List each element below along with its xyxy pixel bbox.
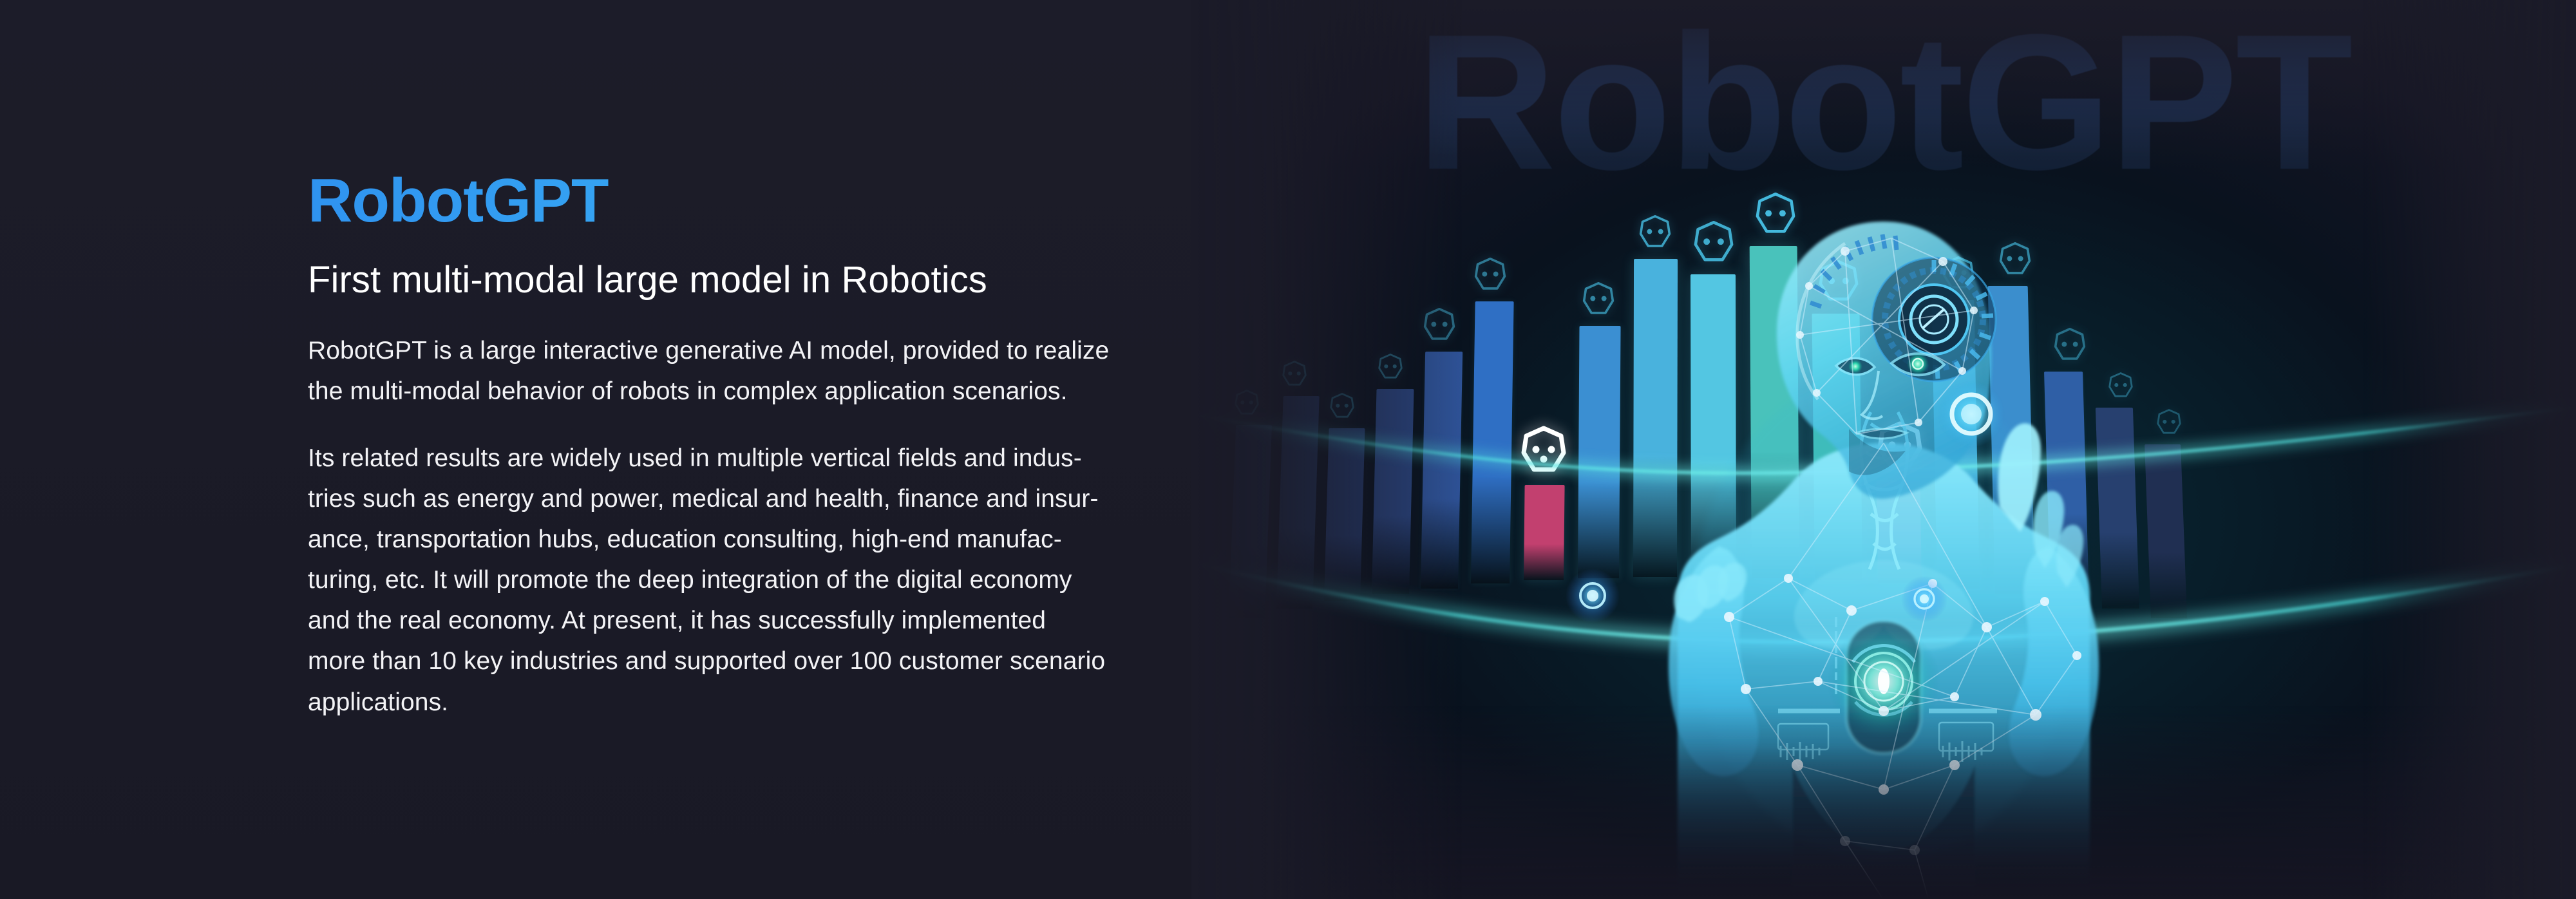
chart-bar xyxy=(1276,396,1320,609)
robot-face-icon xyxy=(2105,370,2136,401)
paragraph-line: tries such as energy and power, medical … xyxy=(308,478,1209,519)
chart-bar xyxy=(1877,480,1922,583)
chart-bar xyxy=(1471,301,1514,583)
robot-face-icon xyxy=(1231,388,1262,419)
page-title: RobotGPT xyxy=(308,169,1222,234)
chart-bar xyxy=(1421,352,1463,589)
robot-face-icon xyxy=(1279,359,1310,390)
chart-bar xyxy=(1988,286,2035,594)
chart-bar xyxy=(2145,444,2187,618)
robot-face-icon xyxy=(1375,352,1406,383)
chart-bar xyxy=(1324,428,1365,601)
robot-face-icon xyxy=(1578,279,1618,319)
chart-bar xyxy=(1633,259,1678,577)
robot-face-icon xyxy=(1516,423,1571,478)
page-subtitle: First multi-modal large model in Robotic… xyxy=(308,258,1222,302)
description-paragraph-1: RobotGPT is a large interactive generati… xyxy=(308,330,1209,412)
paragraph-line: applications. xyxy=(308,682,1209,723)
robot-face-icon xyxy=(1750,189,1801,240)
robot-face-icon xyxy=(1995,240,2035,279)
robot-face-icon xyxy=(2154,407,2184,438)
robot-face-icon xyxy=(1689,218,1739,268)
chart-bar xyxy=(1750,246,1799,578)
robot-face-icon xyxy=(1470,255,1510,295)
robot-face-icon xyxy=(1327,391,1358,422)
paragraph-line: Its related results are widely used in m… xyxy=(308,438,1209,478)
robot-face-icon xyxy=(1872,419,1927,474)
chart-bar xyxy=(1229,425,1272,618)
chart-bar xyxy=(1690,274,1736,577)
chart-bar xyxy=(1812,314,1862,580)
robot-face-icon xyxy=(1635,213,1675,252)
chart-bar xyxy=(1931,300,1980,589)
paragraph-line: more than 10 key industries and supporte… xyxy=(308,641,1209,681)
paragraph-line: turing, etc. It will promote the deep in… xyxy=(308,560,1209,600)
paragraph-line: and the real economy. At present, it has… xyxy=(308,600,1209,641)
chart-bar xyxy=(1372,389,1414,594)
paragraph-line: the multi-modal behavior of robots in co… xyxy=(308,371,1209,412)
chart-bar xyxy=(2096,408,2139,609)
chart-bar xyxy=(2044,372,2089,601)
robot-face-icon xyxy=(2050,325,2090,365)
robot-face-icon xyxy=(1419,305,1459,345)
description-paragraph-2: Its related results are widely used in m… xyxy=(308,438,1209,723)
chart-bar xyxy=(1578,326,1621,578)
data-bar-chart xyxy=(1191,0,2576,899)
paragraph-line: ance, transportation hubs, education con… xyxy=(308,519,1209,560)
hero-artwork: RobotGPT xyxy=(1191,0,2576,899)
chart-bar xyxy=(1524,485,1565,580)
paragraph-line: RobotGPT is a large interactive generati… xyxy=(308,330,1209,371)
robot-face-icon xyxy=(1814,257,1864,307)
copy-column: RobotGPT First multi-modal large model i… xyxy=(308,169,1222,723)
robot-face-icon xyxy=(1938,254,1978,294)
robotgpt-hero-banner: RobotGPT xyxy=(0,0,2576,899)
